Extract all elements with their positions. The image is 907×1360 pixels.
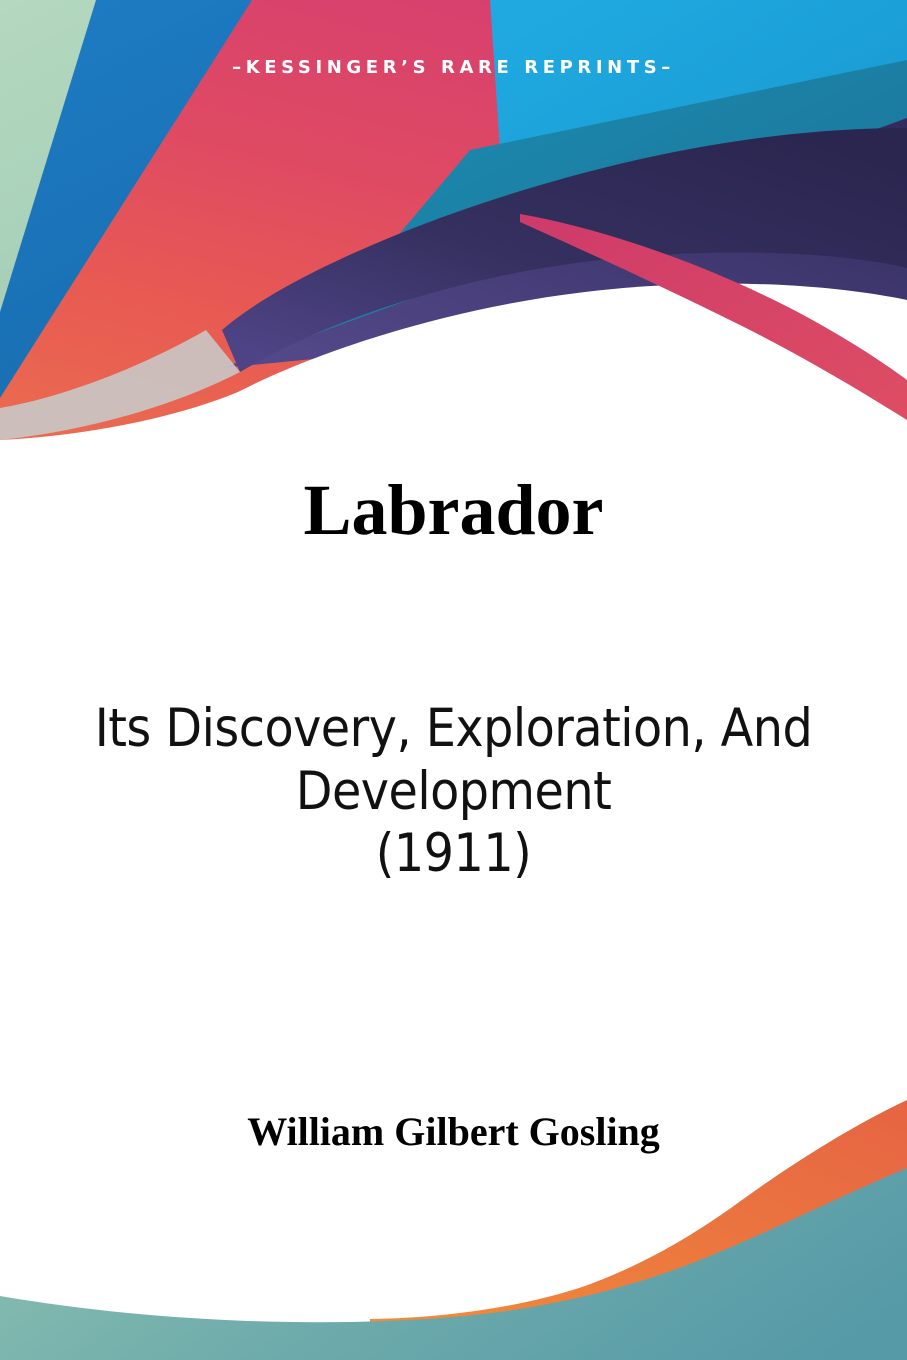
- cover-text-block: Labrador Its Discovery, Exploration, And…: [0, 0, 907, 1360]
- book-subtitle: Its Discovery, Exploration, And Developm…: [0, 698, 907, 886]
- subtitle-line-2: Development: [0, 761, 907, 824]
- page-title: Labrador: [0, 473, 907, 549]
- subtitle-line-1: Its Discovery, Exploration, And: [0, 698, 907, 761]
- imprint-label: –KESSINGER’S RARE REPRINTS–: [0, 57, 907, 78]
- book-cover: –KESSINGER’S RARE REPRINTS– Labrador Its…: [0, 0, 907, 1360]
- subtitle-line-3: (1911): [0, 823, 907, 886]
- book-author: William Gilbert Gosling: [0, 1108, 907, 1155]
